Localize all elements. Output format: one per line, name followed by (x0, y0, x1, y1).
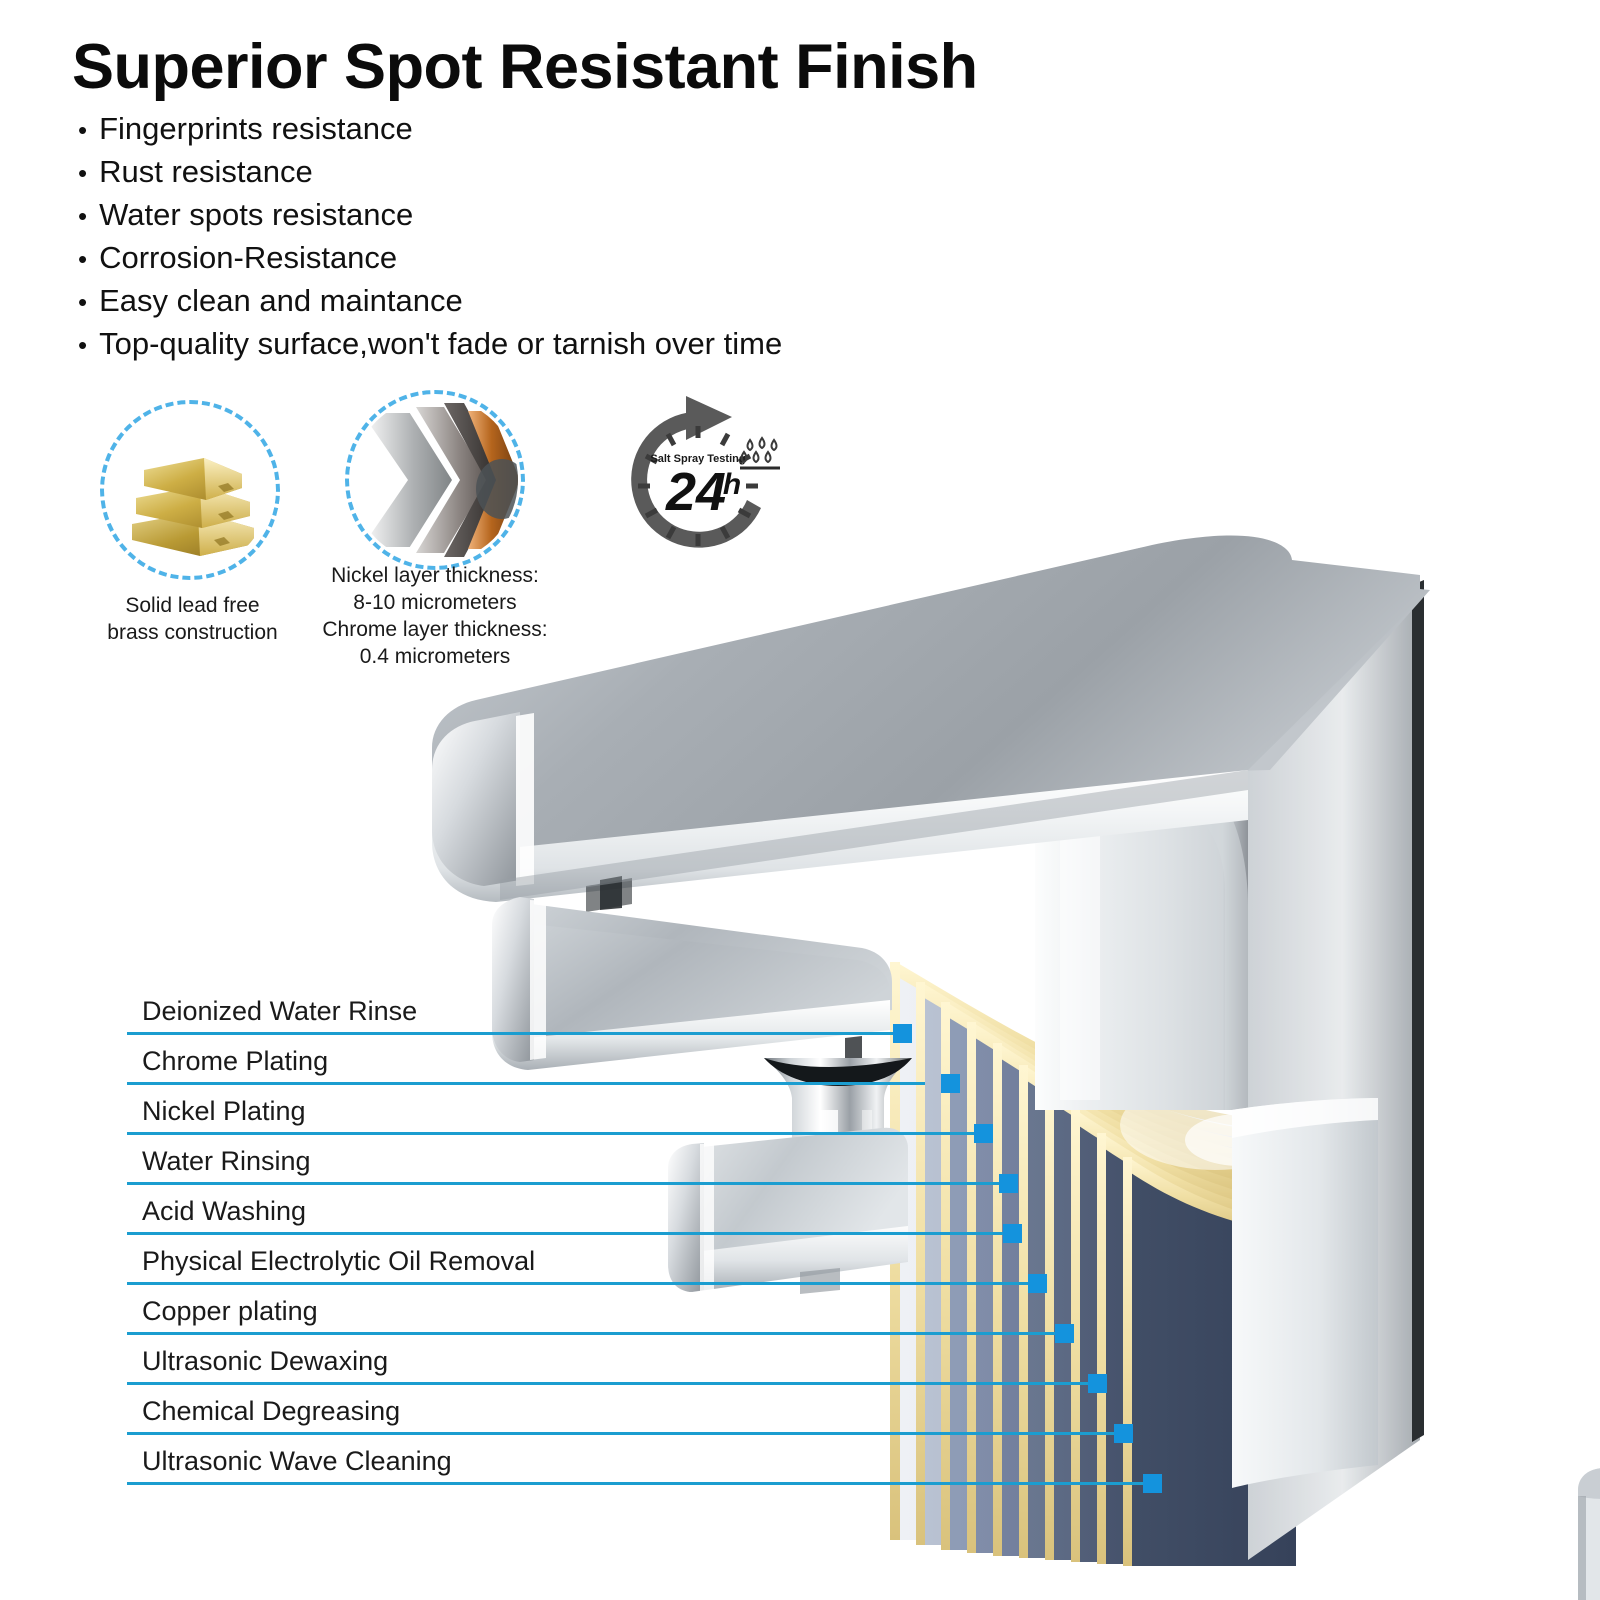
process-step-row[interactable]: Water Rinsing (0, 1135, 1600, 1185)
process-step-label: Chemical Degreasing (142, 1396, 400, 1427)
process-step-label: Copper plating (142, 1296, 318, 1327)
process-leader-marker (1143, 1474, 1162, 1493)
process-step-label: Ultrasonic Dewaxing (142, 1346, 388, 1377)
process-step-label: Chrome Plating (142, 1046, 328, 1077)
process-leader-line (127, 1482, 1145, 1485)
process-step-label: Deionized Water Rinse (142, 996, 417, 1027)
process-step-label: Acid Washing (142, 1196, 306, 1227)
process-step-row[interactable]: Copper plating (0, 1285, 1600, 1335)
process-step-row[interactable]: Ultrasonic Dewaxing (0, 1335, 1600, 1385)
process-step-row[interactable]: Physical Electrolytic Oil Removal (0, 1235, 1600, 1285)
process-step-row[interactable]: Chrome Plating (0, 1035, 1600, 1085)
process-step-row[interactable]: Chemical Degreasing (0, 1385, 1600, 1435)
process-step-row[interactable]: Nickel Plating (0, 1085, 1600, 1135)
process-step-row[interactable]: Deionized Water Rinse (0, 985, 1600, 1035)
process-step-label: Water Rinsing (142, 1146, 311, 1177)
process-step-label: Physical Electrolytic Oil Removal (142, 1246, 535, 1277)
process-step-row[interactable]: Ultrasonic Wave Cleaning (0, 1435, 1600, 1485)
process-step-label: Nickel Plating (142, 1096, 306, 1127)
process-step-row[interactable]: Acid Washing (0, 1185, 1600, 1235)
process-step-label: Ultrasonic Wave Cleaning (142, 1446, 452, 1477)
plating-process-labels: Deionized Water RinseChrome PlatingNicke… (0, 0, 1600, 1600)
